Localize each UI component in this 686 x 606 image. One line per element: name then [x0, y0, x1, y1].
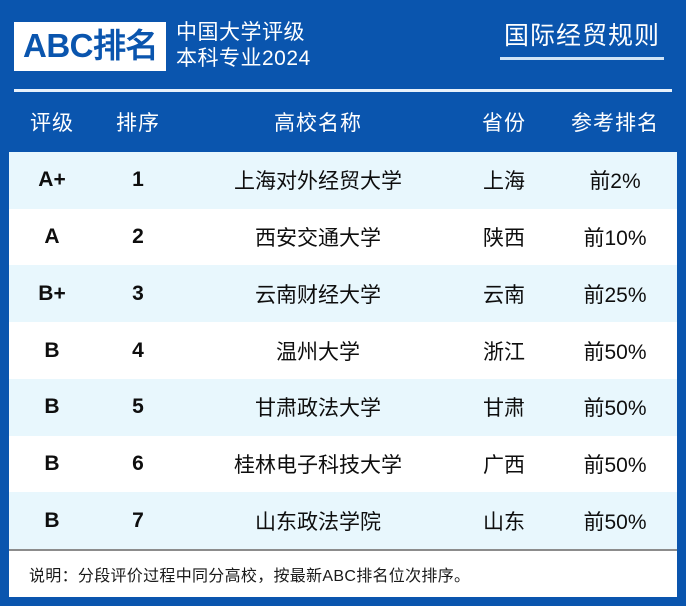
- cell-rank: 4: [95, 339, 181, 363]
- cell-reference: 前25%: [553, 279, 677, 309]
- cell-rank: 7: [95, 509, 181, 533]
- page-title: 国际经贸规则: [500, 20, 664, 60]
- cell-grade: A: [9, 225, 95, 249]
- cell-grade: A+: [9, 168, 95, 192]
- brand-subtitle: 中国大学评级 本科专业2024: [176, 20, 311, 72]
- page-title-text: 国际经贸规则: [500, 20, 664, 52]
- table-row[interactable]: A 2 西安交通大学 陕西 前10%: [9, 209, 677, 266]
- ranking-table: 评级 排序 高校名称 省份 参考排名 A+ 1 上海对外经贸大学 上海 前2% …: [0, 92, 686, 606]
- column-header-name: 高校名称: [181, 107, 455, 137]
- table-row[interactable]: B+ 3 云南财经大学 云南 前25%: [9, 265, 677, 322]
- cell-rank: 3: [95, 282, 181, 306]
- table-row[interactable]: A+ 1 上海对外经贸大学 上海 前2%: [9, 152, 677, 209]
- cell-name: 甘肃政法大学: [181, 392, 455, 422]
- cell-province: 甘肃: [455, 392, 553, 422]
- cell-name: 山东政法学院: [181, 506, 455, 536]
- cell-province: 云南: [455, 279, 553, 309]
- cell-province: 上海: [455, 165, 553, 195]
- footer-note: 说明：分段评价过程中同分高校，按最新ABC排名位次排序。: [9, 551, 677, 597]
- cell-grade: B+: [9, 282, 95, 306]
- cell-grade: B: [9, 452, 95, 476]
- cell-province: 山东: [455, 506, 553, 536]
- cell-name: 桂林电子科技大学: [181, 449, 455, 479]
- page-title-underline: [500, 57, 664, 60]
- cell-reference: 前50%: [553, 506, 677, 536]
- column-header-reference: 参考排名: [553, 107, 677, 137]
- cell-rank: 5: [95, 395, 181, 419]
- table-row[interactable]: B 5 甘肃政法大学 甘肃 前50%: [9, 379, 677, 436]
- cell-name: 上海对外经贸大学: [181, 165, 455, 195]
- cell-reference: 前50%: [553, 336, 677, 366]
- brand-subtitle-line1: 中国大学评级: [176, 20, 311, 46]
- cell-rank: 6: [95, 452, 181, 476]
- cell-grade: B: [9, 395, 95, 419]
- table-row[interactable]: B 7 山东政法学院 山东 前50%: [9, 492, 677, 549]
- cell-name: 西安交通大学: [181, 222, 455, 252]
- table-body: A+ 1 上海对外经贸大学 上海 前2% A 2 西安交通大学 陕西 前10% …: [9, 152, 677, 597]
- cell-name: 温州大学: [181, 336, 455, 366]
- table-row[interactable]: B 4 温州大学 浙江 前50%: [9, 322, 677, 379]
- table-header-row: 评级 排序 高校名称 省份 参考排名: [9, 92, 677, 152]
- cell-province: 陕西: [455, 222, 553, 252]
- brand-subtitle-line2: 本科专业2024: [176, 46, 311, 72]
- banner: ABC排名 中国大学评级 本科专业2024 国际经贸规则: [0, 0, 686, 92]
- column-header-rank: 排序: [95, 107, 181, 137]
- cell-province: 广西: [455, 449, 553, 479]
- brand: ABC排名 中国大学评级 本科专业2024: [14, 20, 311, 72]
- cell-reference: 前2%: [553, 165, 677, 195]
- cell-rank: 1: [95, 168, 181, 192]
- table-row[interactable]: B 6 桂林电子科技大学 广西 前50%: [9, 436, 677, 493]
- cell-grade: B: [9, 509, 95, 533]
- cell-grade: B: [9, 339, 95, 363]
- column-header-province: 省份: [455, 107, 553, 137]
- abc-ranking-logo: ABC排名: [14, 22, 166, 71]
- cell-reference: 前50%: [553, 449, 677, 479]
- cell-name: 云南财经大学: [181, 279, 455, 309]
- banner-divider: [14, 89, 672, 92]
- column-header-grade: 评级: [9, 107, 95, 137]
- cell-rank: 2: [95, 225, 181, 249]
- cell-reference: 前10%: [553, 222, 677, 252]
- cell-reference: 前50%: [553, 392, 677, 422]
- ranking-card: ABC排名 中国大学评级 本科专业2024 国际经贸规则 评级 排序 高校名称 …: [0, 0, 686, 606]
- cell-province: 浙江: [455, 336, 553, 366]
